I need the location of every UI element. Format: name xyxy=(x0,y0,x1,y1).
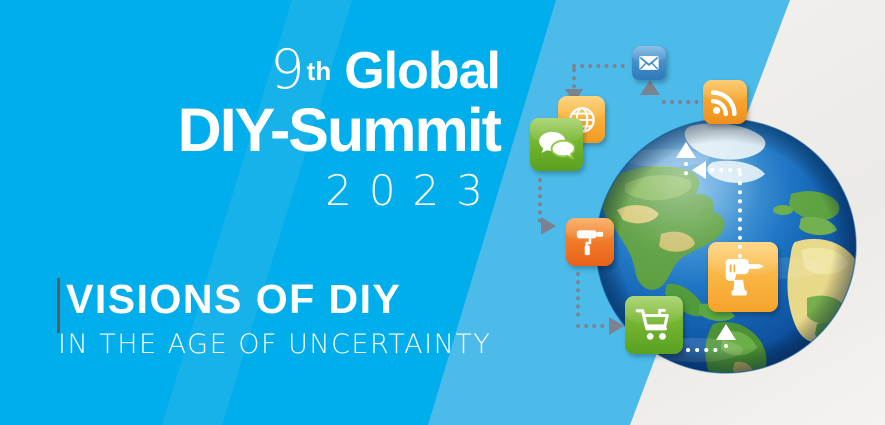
shopping-cart-icon xyxy=(625,296,683,354)
paint-roller-icon xyxy=(566,218,614,266)
ordinal-number: 9 xyxy=(270,38,305,101)
subtitle-tagline: IN THE AGE OF UNCERTAINTY xyxy=(58,329,491,360)
chat-bubbles-glyph xyxy=(539,129,575,161)
title-line-one: 9thGlobal xyxy=(0,38,500,101)
envelope-icon xyxy=(632,46,666,80)
connector-globe-south xyxy=(684,322,752,356)
shopping-cart-glyph xyxy=(635,307,673,343)
connector-globe-south-path xyxy=(684,322,752,356)
rss-feed-icon xyxy=(703,80,747,124)
connector-globe-east-path xyxy=(686,148,748,278)
title-word-global: Global xyxy=(344,42,500,100)
paint-roller-glyph xyxy=(574,226,606,258)
diy-summit-banner: 9thGlobal DIY-Summit 2023 VISIONS OF DIY… xyxy=(0,0,885,425)
connector-globe-east xyxy=(686,148,748,278)
rss-feed-glyph xyxy=(711,88,739,116)
subtitle-headline: VISIONS OF DIY xyxy=(66,276,401,323)
title-year: 2023 xyxy=(0,166,500,215)
ordinal-suffix: th xyxy=(307,56,332,86)
subtitle-accent-bar xyxy=(57,278,60,333)
title-line-two: DIY-Summit xyxy=(0,95,500,165)
headline-block: 9thGlobal DIY-Summit 2023 xyxy=(0,0,540,425)
envelope-glyph xyxy=(638,52,660,74)
